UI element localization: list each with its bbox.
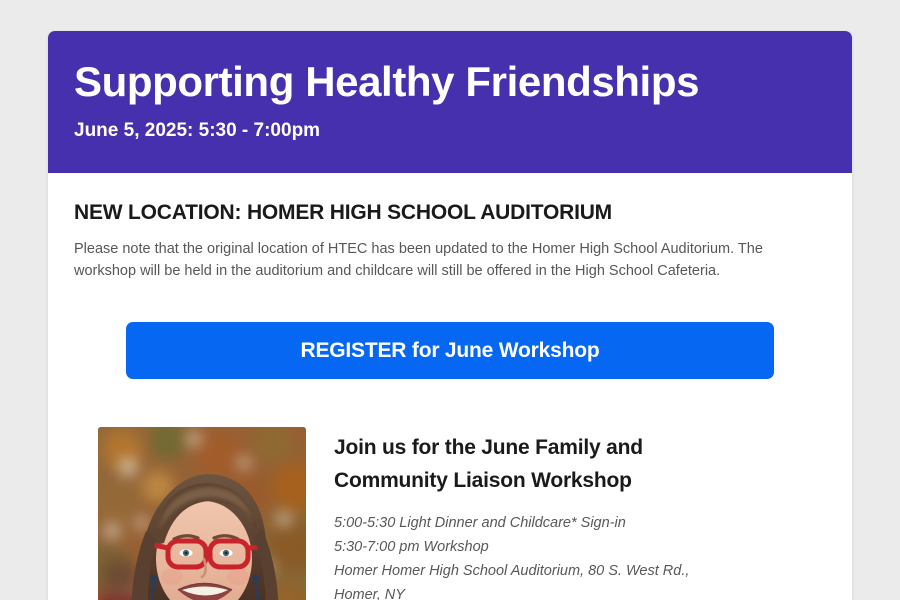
page-title: Supporting Healthy Friendships	[74, 57, 826, 107]
feature-section: Join us for the June Family and Communit…	[74, 427, 826, 600]
newsletter-body: NEW LOCATION: HOMER HIGH SCHOOL AUDITORI…	[48, 200, 852, 600]
newsletter-page: Supporting Healthy Friendships June 5, 2…	[0, 0, 900, 600]
hero-banner: Supporting Healthy Friendships June 5, 2…	[48, 31, 852, 173]
presenter-photo	[98, 427, 306, 600]
newsletter-card: Supporting Healthy Friendships June 5, 2…	[48, 31, 852, 600]
workshop-detail-line: 5:00-5:30 Light Dinner and Childcare* Si…	[334, 511, 706, 535]
cta-container: REGISTER for June Workshop	[74, 322, 826, 379]
workshop-heading: Join us for the June Family and Communit…	[334, 431, 704, 497]
workshop-details: 5:00-5:30 Light Dinner and Childcare* Si…	[334, 511, 706, 600]
register-button[interactable]: REGISTER for June Workshop	[126, 322, 774, 379]
feature-text-column: Join us for the June Family and Communit…	[306, 427, 826, 600]
presenter-photo-graphic	[98, 427, 306, 600]
event-datetime: June 5, 2025: 5:30 - 7:00pm	[74, 120, 826, 142]
location-notice-heading: NEW LOCATION: HOMER HIGH SCHOOL AUDITORI…	[74, 200, 826, 226]
location-notice-body: Please note that the original location o…	[74, 238, 826, 282]
workshop-detail-line: Homer Homer High School Auditorium, 80 S…	[334, 559, 706, 600]
workshop-detail-line: 5:30-7:00 pm Workshop	[334, 535, 706, 559]
